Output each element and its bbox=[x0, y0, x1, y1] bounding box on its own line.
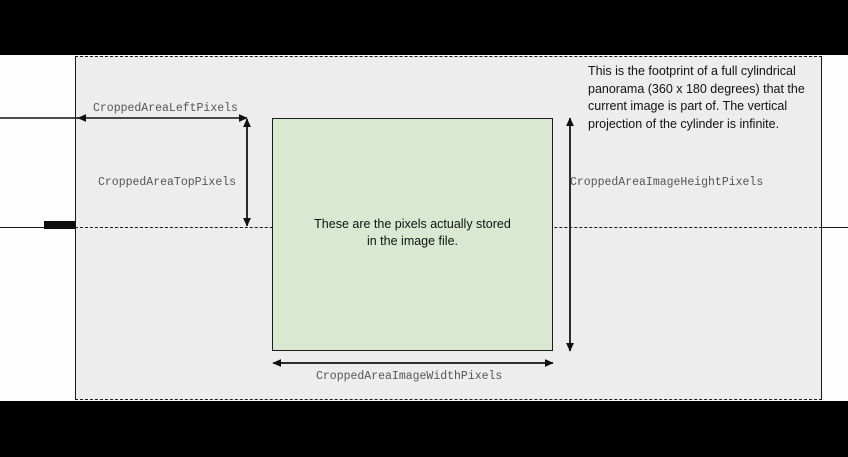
panorama-description-text: This is the footprint of a full cylindri… bbox=[588, 63, 820, 133]
label-cropped-area-left-pixels: CroppedAreaLeftPixels bbox=[93, 102, 238, 115]
panorama-bottom-edge bbox=[75, 399, 822, 400]
diagram-canvas: These are the pixels actually stored in … bbox=[0, 0, 848, 457]
label-cropped-area-top-pixels: CroppedAreaTopPixels bbox=[98, 176, 236, 189]
horizon-marker-bar bbox=[44, 221, 75, 229]
label-cropped-area-image-height-pixels: CroppedAreaImageHeightPixels bbox=[570, 176, 763, 189]
horizon-line-right-segment bbox=[821, 227, 848, 228]
stored-pixels-caption-line1: These are the pixels actually stored bbox=[272, 216, 553, 233]
stored-pixels-caption-line2: in the image file. bbox=[272, 233, 553, 250]
panorama-left-edge bbox=[75, 56, 76, 400]
label-cropped-area-image-width-pixels: CroppedAreaImageWidthPixels bbox=[316, 370, 502, 383]
panorama-top-edge bbox=[75, 56, 822, 57]
stored-pixels-caption: These are the pixels actually stored in … bbox=[272, 216, 553, 250]
panorama-right-edge bbox=[821, 56, 822, 400]
